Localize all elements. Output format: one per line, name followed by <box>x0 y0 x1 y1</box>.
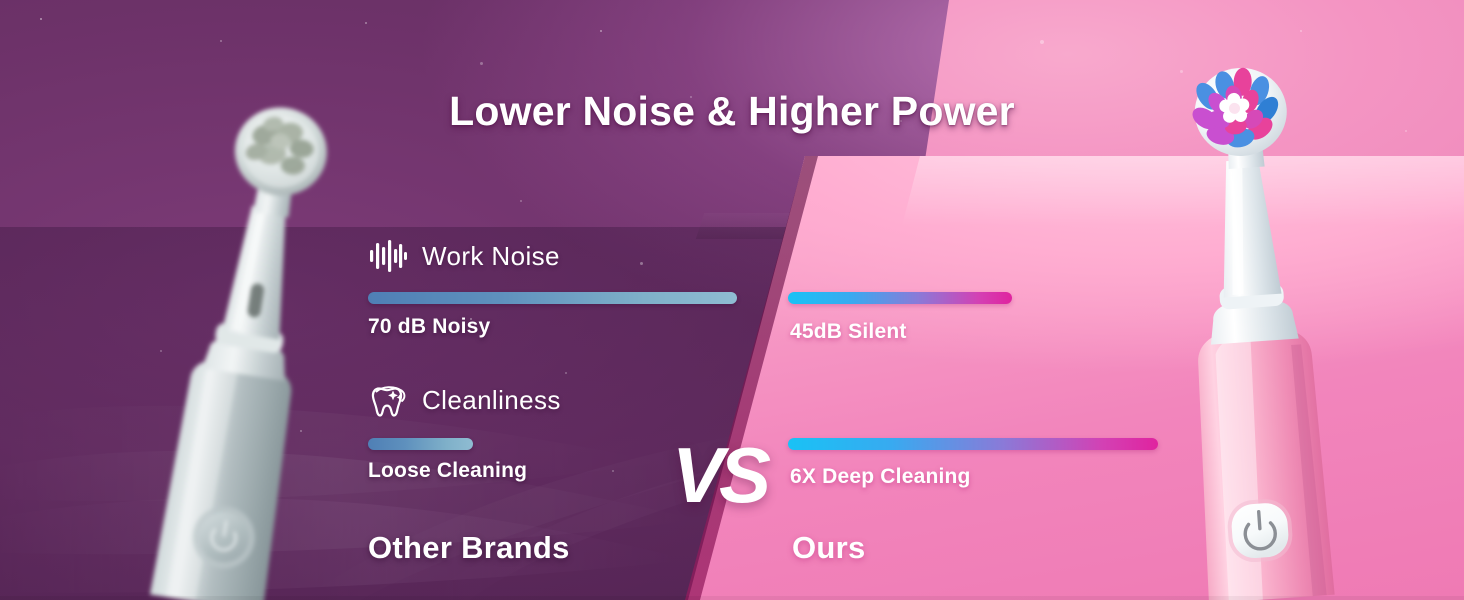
bar-left-cleanliness <box>368 438 473 450</box>
metric-header-work-noise: Work Noise <box>368 238 560 274</box>
sound-wave-icon <box>368 238 408 274</box>
bar-left-work-noise <box>368 292 737 304</box>
tooth-sparkle-icon <box>368 382 408 418</box>
product-comparison-banner: Lower Noise & Higher Power Work Noise 70… <box>0 0 1464 600</box>
banner-title: Lower Noise & Higher Power <box>0 88 1464 135</box>
bar-right-work-noise <box>788 292 1012 304</box>
metric-header-cleanliness: Cleanliness <box>368 382 561 418</box>
brand-label-ours: Ours <box>792 530 866 566</box>
value-left-work-noise: 70 dB Noisy <box>368 315 490 339</box>
value-right-work-noise: 45dB Silent <box>790 320 907 344</box>
value-left-cleanliness: Loose Cleaning <box>368 459 527 483</box>
metric-label-cleanliness: Cleanliness <box>422 385 561 416</box>
vs-badge: VS <box>672 436 766 514</box>
our-toothbrush <box>1118 60 1378 600</box>
metric-label-work-noise: Work Noise <box>422 241 560 272</box>
brand-label-other-brands: Other Brands <box>368 530 570 566</box>
bar-right-cleanliness <box>788 438 1158 450</box>
other-brand-toothbrush <box>118 86 368 600</box>
value-right-cleanliness: 6X Deep Cleaning <box>790 465 971 489</box>
